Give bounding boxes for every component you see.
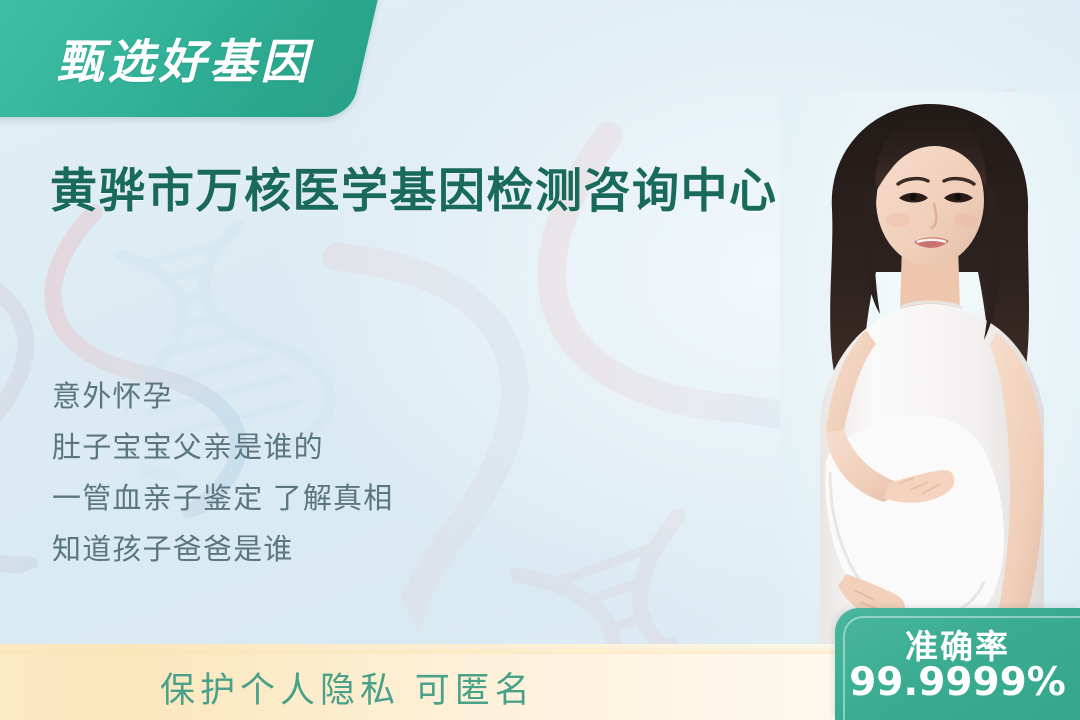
brand-banner: 甄选好基因	[0, 0, 381, 117]
brand-banner-inner: 甄选好基因	[0, 0, 366, 117]
privacy-tagline: 保护个人隐私 可匿名	[160, 662, 535, 713]
accuracy-badge: 准确率 99.9999%	[835, 608, 1080, 720]
promo-copy-block: 意外怀孕 肚子宝宝父亲是谁的 一管血亲子鉴定 了解真相 知道孩子爸爸是谁	[52, 372, 393, 576]
brand-banner-text: 甄选好基因	[57, 23, 312, 92]
copy-line: 意外怀孕	[52, 372, 393, 423]
copy-line: 肚子宝宝父亲是谁的	[52, 423, 393, 474]
accuracy-badge-value: 99.9999%	[835, 660, 1080, 705]
copy-line: 一管血亲子鉴定 了解真相	[52, 474, 393, 525]
dna-helix-icon	[839, 49, 1080, 441]
page-title: 黄骅市万核医学基因检测咨询中心	[50, 152, 778, 221]
copy-line: 知道孩子爸爸是谁	[52, 525, 393, 576]
promo-poster: 甄选好基因 黄骅市万核医学基因检测咨询中心 意外怀孕 肚子宝宝父亲是谁的 一管血…	[0, 0, 1080, 720]
pregnant-woman-photo	[780, 92, 1080, 667]
